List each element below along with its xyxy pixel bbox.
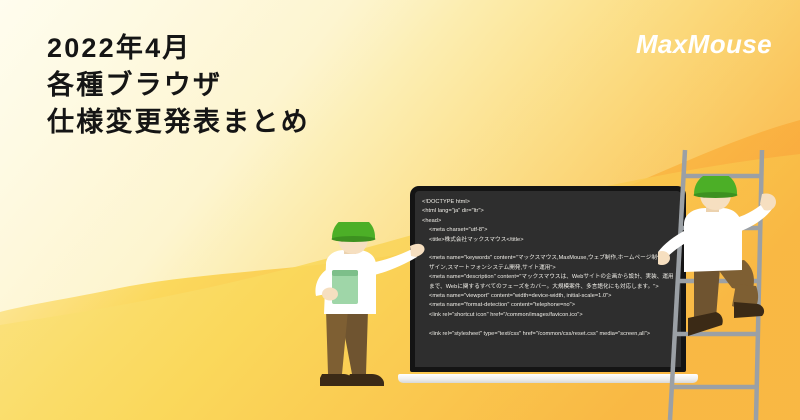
worker-helmet-brim	[332, 236, 376, 242]
climber-helmet-brim	[694, 192, 738, 198]
hero-banner: 2022年4月 各種ブラウザ 仕様変更発表まとめ MaxMouse <!DOCT…	[0, 0, 800, 420]
climber-shoe-front	[734, 302, 764, 318]
worker-shoe-right	[348, 374, 384, 386]
climber-shirt	[684, 208, 742, 272]
worker-hand-holding	[322, 288, 338, 301]
headline-line-3: 仕様変更発表まとめ	[47, 104, 310, 141]
headline-line-1: 2022年4月	[47, 30, 310, 67]
climbing-worker	[658, 176, 790, 376]
worker-arm-pointing	[364, 249, 417, 277]
climber-shoe-back	[688, 312, 723, 336]
page-title: 2022年4月 各種ブラウザ 仕様変更発表まとめ	[47, 30, 310, 141]
worker-hand-pointing	[410, 244, 425, 257]
brand-logo: MaxMouse	[636, 29, 772, 60]
pointing-worker	[296, 222, 426, 400]
worker-leg-front	[326, 310, 348, 374]
clipboard-clip	[332, 270, 358, 276]
headline-line-2: 各種ブラウザ	[47, 67, 310, 104]
